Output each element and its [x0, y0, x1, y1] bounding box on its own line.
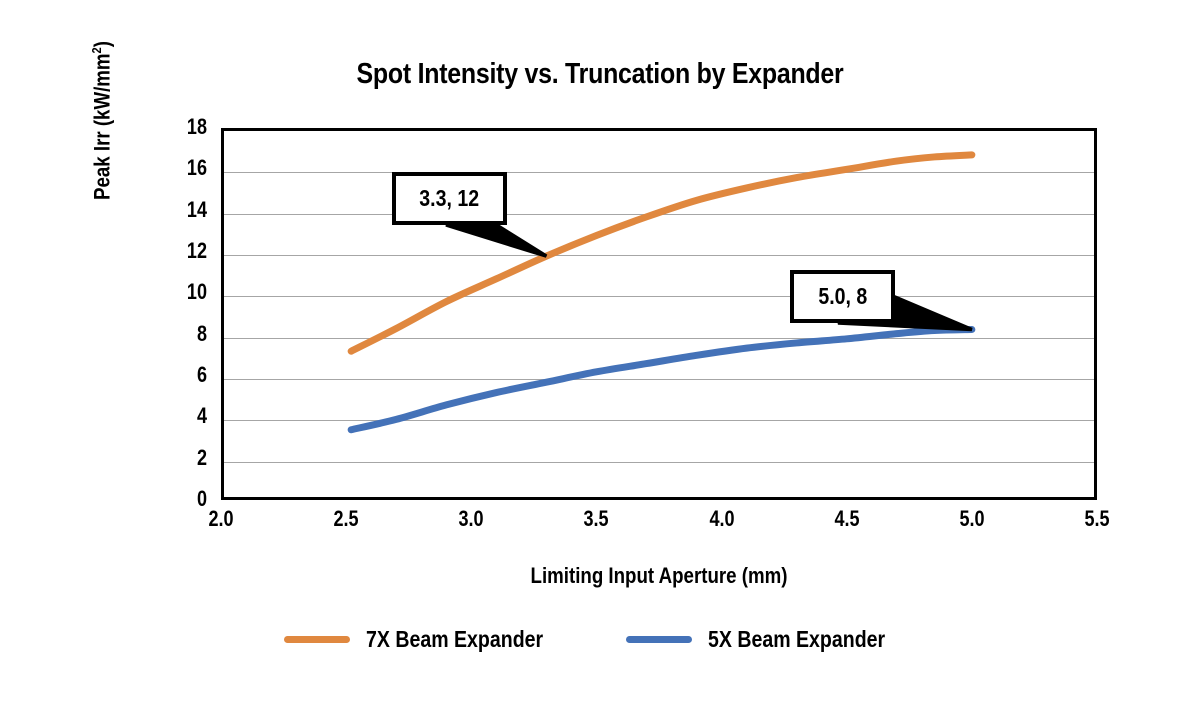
chart-legend: 7X Beam Expander5X Beam Expander: [0, 626, 1200, 653]
x-axis-tick-label: 2.0: [188, 508, 254, 530]
y-axis-tick-label: 10: [158, 281, 207, 303]
y-axis-tick-label: 8: [158, 323, 207, 345]
y-axis-tick-label: 6: [158, 364, 207, 386]
y-axis-title-text: Peak Irr (kW/mm: [89, 53, 114, 200]
gridline: [224, 420, 1094, 421]
x-axis-tick-label: 5.0: [939, 508, 1005, 530]
y-axis-tick-label: 14: [158, 199, 207, 221]
plot-area: [221, 128, 1097, 500]
x-axis-tick-labels: 2.02.53.03.54.04.55.05.5: [221, 508, 1097, 544]
gridline: [224, 172, 1094, 173]
gridline: [224, 462, 1094, 463]
x-axis-title: Limiting Input Aperture (mm): [287, 563, 1032, 589]
annotation-callout-2-label: 5.0, 8: [818, 283, 867, 310]
gridline: [224, 296, 1094, 297]
legend-item[interactable]: 7X Beam Expander: [284, 626, 574, 653]
legend-item[interactable]: 5X Beam Expander: [626, 626, 916, 653]
chart-container: Spot Intensity vs. Truncation by Expande…: [0, 0, 1200, 720]
legend-color-swatch: [626, 636, 692, 643]
x-axis-tick-label: 4.0: [689, 508, 755, 530]
gridline: [224, 338, 1094, 339]
x-axis-tick-label: 3.5: [564, 508, 630, 530]
y-axis-tick-label: 0: [158, 488, 207, 510]
legend-item-label: 7X Beam Expander: [366, 626, 543, 653]
chart-title: Spot Intensity vs. Truncation by Expande…: [84, 58, 1116, 91]
x-axis-tick-label: 4.5: [814, 508, 880, 530]
annotation-callout-1: 3.3, 12: [392, 172, 507, 225]
gridline: [224, 379, 1094, 380]
gridline: [224, 214, 1094, 215]
y-axis-tick-label: 12: [158, 240, 207, 262]
annotation-callout-2: 5.0, 8: [790, 270, 895, 323]
x-axis-tick-label: 2.5: [313, 508, 379, 530]
annotation-callout-1-label: 3.3, 12: [420, 185, 480, 212]
x-axis-tick-label: 5.5: [1064, 508, 1130, 530]
y-axis-tick-label: 18: [158, 116, 207, 138]
gridline: [224, 255, 1094, 256]
legend-color-swatch: [284, 636, 350, 643]
y-axis-title-close: ): [89, 41, 114, 47]
y-axis-tick-label: 16: [158, 157, 207, 179]
x-axis-tick-label: 3.0: [438, 508, 504, 530]
y-axis-title-superscript: 2: [89, 47, 104, 53]
y-axis-tick-label: 2: [158, 447, 207, 469]
y-axis-tick-labels: 181614121086420: [145, 128, 207, 500]
y-axis-title: Peak Irr (kW/mm2): [89, 4, 117, 200]
y-axis-tick-label: 4: [158, 405, 207, 427]
legend-item-label: 5X Beam Expander: [708, 626, 885, 653]
